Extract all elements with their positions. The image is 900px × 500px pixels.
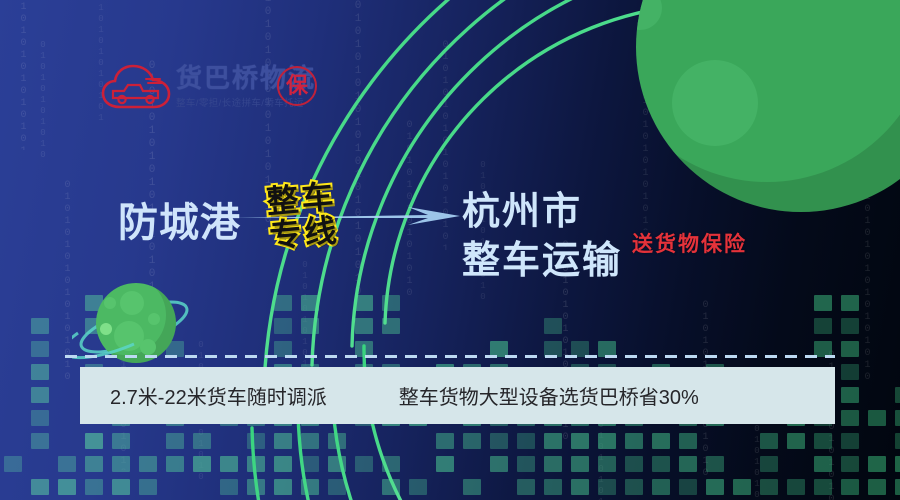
block-tile xyxy=(625,456,643,472)
block-tile xyxy=(85,479,103,495)
destination-service-label: 整车运输 xyxy=(462,239,622,284)
block-tile xyxy=(463,479,481,495)
block-tile xyxy=(355,456,373,472)
dashed-divider xyxy=(65,355,835,358)
block-tile xyxy=(841,318,859,334)
binary-stream: 0101010101010101 xyxy=(18,0,28,150)
bottom-info-banner: 2.7米-22米货车随时调派 整车货物大型设备选货巴桥省30% xyxy=(80,367,835,424)
block-tile xyxy=(571,456,589,472)
binary-stream: 0101010101010 xyxy=(38,40,47,160)
block-tile xyxy=(382,479,400,495)
block-tile xyxy=(355,295,373,311)
block-tile xyxy=(895,410,900,426)
banner-right-text: 整车货物大型设备选货巴桥省30% xyxy=(399,381,699,410)
block-tile xyxy=(598,479,616,495)
block-tile xyxy=(895,479,900,495)
block-tile xyxy=(544,456,562,472)
block-tile xyxy=(355,318,373,334)
badge-line-2: 专线 xyxy=(268,214,341,254)
block-tile xyxy=(814,318,832,334)
block-tile xyxy=(760,479,778,495)
block-tile xyxy=(841,295,859,311)
block-tile xyxy=(4,456,22,472)
destination-block: 杭州市 整车运输 xyxy=(462,190,622,284)
block-tile xyxy=(328,456,346,472)
block-tile xyxy=(382,318,400,334)
block-tile xyxy=(31,341,49,357)
block-tile xyxy=(85,456,103,472)
block-tile xyxy=(58,479,76,495)
insurance-stamp-icon: 保 xyxy=(277,66,317,106)
block-tile xyxy=(220,479,238,495)
destination-city-label: 杭州市 xyxy=(462,190,622,235)
block-tile xyxy=(868,479,886,495)
block-tile xyxy=(895,433,900,449)
block-tile xyxy=(571,433,589,449)
block-tile xyxy=(274,433,292,449)
block-tile xyxy=(544,433,562,449)
cloud-truck-logo-icon xyxy=(100,61,172,113)
block-tile xyxy=(868,410,886,426)
block-tile xyxy=(895,387,900,403)
block-tile xyxy=(517,433,535,449)
block-tile xyxy=(841,433,859,449)
block-tile xyxy=(382,456,400,472)
block-tile xyxy=(193,433,211,449)
block-tile xyxy=(814,479,832,495)
block-tile xyxy=(706,479,724,495)
block-tile xyxy=(166,433,184,449)
block-tile xyxy=(112,433,130,449)
block-tile xyxy=(274,456,292,472)
block-tile xyxy=(301,456,319,472)
block-tile xyxy=(112,479,130,495)
block-tile xyxy=(841,387,859,403)
block-tile xyxy=(139,479,157,495)
block-tile xyxy=(274,318,292,334)
block-tile xyxy=(679,479,697,495)
block-tile xyxy=(382,295,400,311)
block-tile xyxy=(787,433,805,449)
block-tile xyxy=(301,295,319,311)
block-tile xyxy=(490,456,508,472)
block-tile xyxy=(841,341,859,357)
block-tile xyxy=(301,433,319,449)
block-tile xyxy=(571,479,589,495)
block-tile xyxy=(436,456,454,472)
block-tile xyxy=(517,479,535,495)
block-tile xyxy=(58,456,76,472)
block-tile xyxy=(301,318,319,334)
block-tile xyxy=(31,364,49,380)
block-tile xyxy=(814,456,832,472)
block-tile xyxy=(166,456,184,472)
block-tile xyxy=(544,318,562,334)
insurance-note-label: 送货物保险 xyxy=(632,228,747,258)
block-tile xyxy=(220,456,238,472)
block-tile xyxy=(814,295,832,311)
block-tile xyxy=(652,433,670,449)
block-tile xyxy=(625,479,643,495)
block-tile xyxy=(328,479,346,495)
block-tile xyxy=(679,456,697,472)
block-tile xyxy=(85,433,103,449)
block-tile xyxy=(841,364,859,380)
block-tile xyxy=(652,479,670,495)
block-tile xyxy=(787,479,805,495)
block-tile xyxy=(31,433,49,449)
block-tile xyxy=(31,479,49,495)
block-tile xyxy=(247,433,265,449)
block-tile xyxy=(409,479,427,495)
block-tile xyxy=(868,456,886,472)
block-tile xyxy=(814,433,832,449)
block-tile xyxy=(652,456,670,472)
banner-left-text: 2.7米-22米货车随时调派 xyxy=(110,381,327,410)
block-tile xyxy=(895,456,900,472)
block-tile xyxy=(841,456,859,472)
block-tile xyxy=(733,479,751,495)
block-tile xyxy=(598,433,616,449)
block-tile xyxy=(841,410,859,426)
block-tile xyxy=(112,456,130,472)
block-tile xyxy=(490,433,508,449)
block-tile xyxy=(247,479,265,495)
block-tile xyxy=(544,479,562,495)
block-tile xyxy=(247,456,265,472)
block-tile xyxy=(679,433,697,449)
origin-city-label: 防城港 xyxy=(118,190,241,248)
block-tile xyxy=(517,456,535,472)
block-tile xyxy=(436,433,454,449)
block-tile xyxy=(463,433,481,449)
block-tile xyxy=(760,456,778,472)
poster-canvas: 0101010101010101010101010101001010101010… xyxy=(0,0,900,500)
block-tile xyxy=(625,433,643,449)
planet-large-icon xyxy=(636,0,900,212)
block-tile xyxy=(274,479,292,495)
block-tile xyxy=(598,456,616,472)
block-tile xyxy=(328,433,346,449)
block-tile xyxy=(841,479,859,495)
block-tile xyxy=(193,456,211,472)
block-tile xyxy=(31,318,49,334)
block-tile xyxy=(31,387,49,403)
block-tile xyxy=(139,456,157,472)
block-tile xyxy=(301,479,319,495)
block-tile xyxy=(760,433,778,449)
block-tile xyxy=(706,456,724,472)
route-type-badge: 整车 专线 xyxy=(246,160,361,275)
block-tile xyxy=(31,410,49,426)
block-tile xyxy=(274,295,292,311)
